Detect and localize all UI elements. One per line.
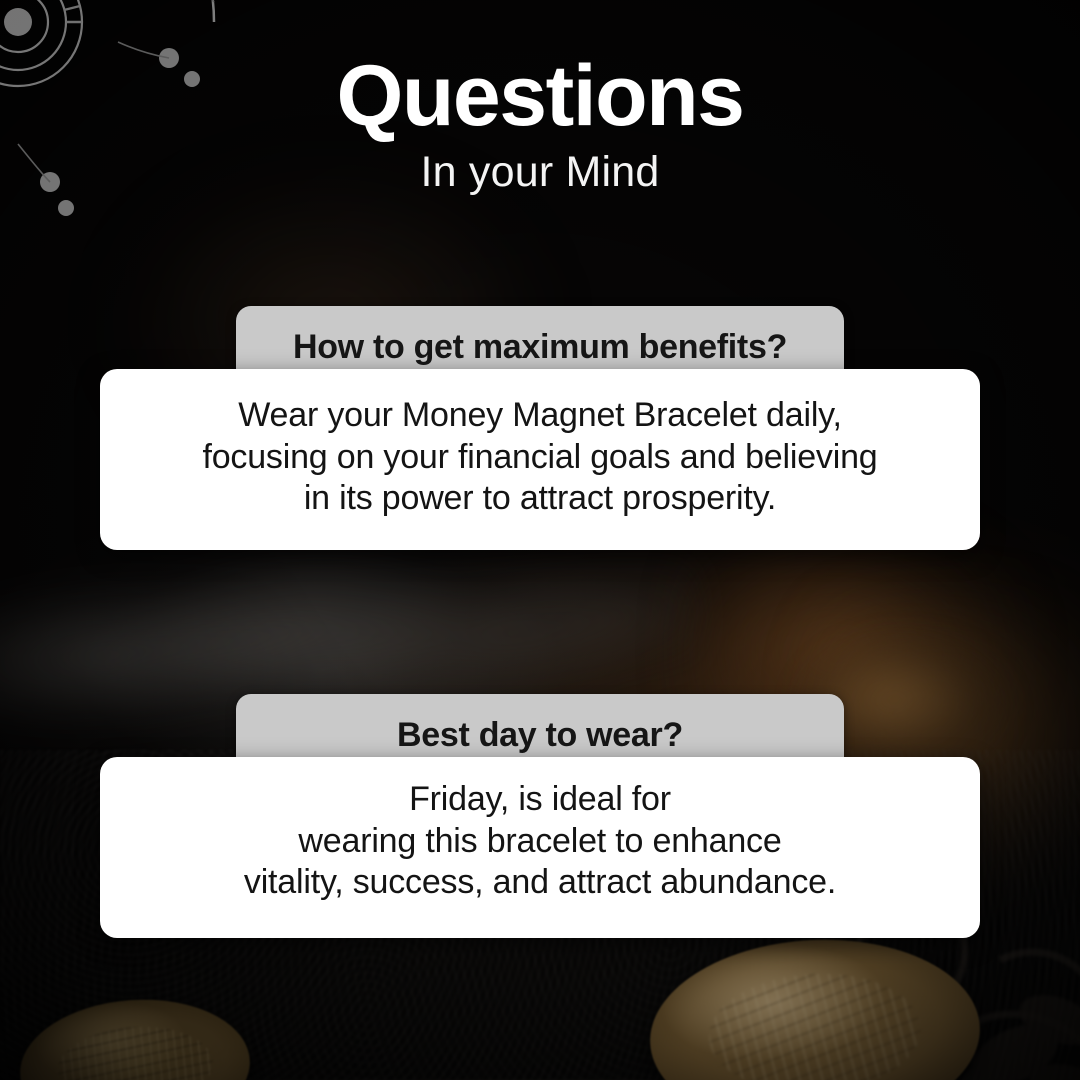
faq-item: Best day to wear? Friday, is ideal for w… — [0, 694, 1080, 938]
coin-engraving — [54, 1022, 216, 1080]
faq-answer-card: Friday, is ideal for wearing this bracel… — [100, 757, 980, 937]
faq-answer-text: Wear your Money Magnet Bracelet daily, f… — [138, 395, 942, 519]
page-title-block: Questions In your Mind — [0, 50, 1080, 196]
faq-question-text: How to get maximum benefits? — [260, 328, 820, 367]
faq-answer-text: Friday, is ideal for wearing this bracel… — [138, 779, 942, 903]
faq-poster: Questions In your Mind How to get maximu… — [0, 0, 1080, 1080]
page-subtitle: In your Mind — [0, 149, 1080, 196]
faq-question-text: Best day to wear? — [260, 716, 820, 755]
coin-engraving — [706, 969, 923, 1080]
faq-answer-card: Wear your Money Magnet Bracelet daily, f… — [100, 369, 980, 549]
page-title: Questions — [0, 50, 1080, 143]
faq-item: How to get maximum benefits? Wear your M… — [0, 306, 1080, 550]
